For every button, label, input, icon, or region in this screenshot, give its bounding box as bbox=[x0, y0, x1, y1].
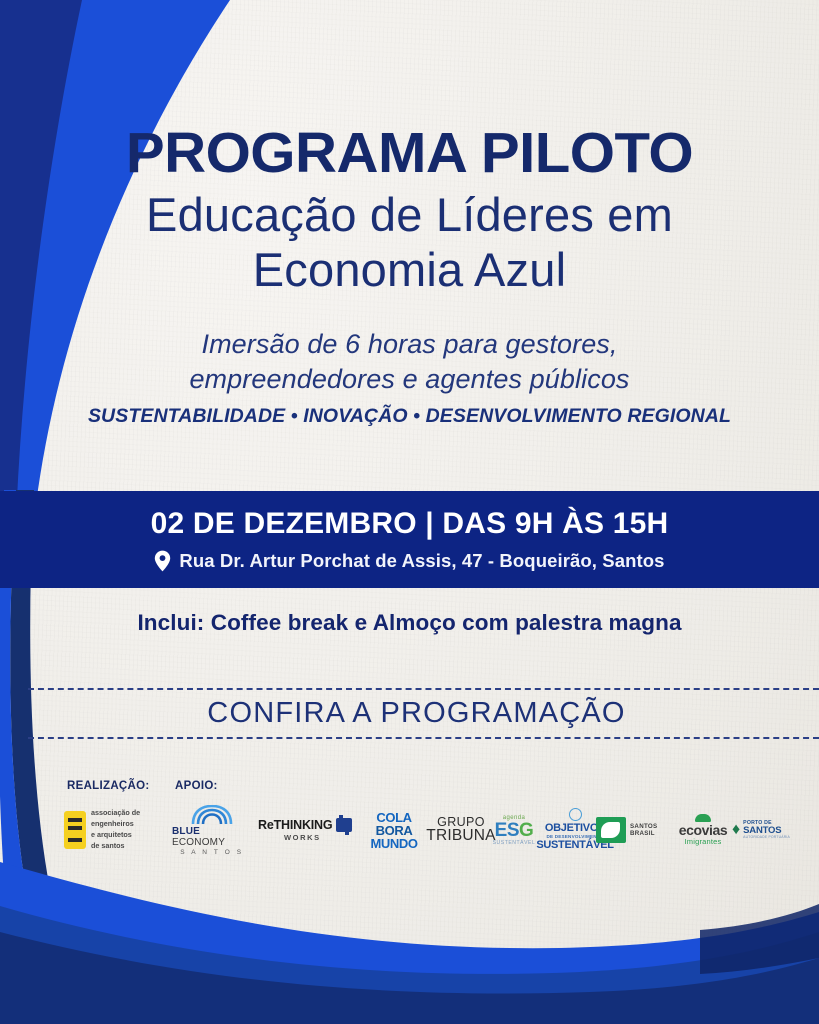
map-pin-icon bbox=[154, 550, 171, 572]
subtitle-line-1: Educação de Líderes em bbox=[0, 188, 819, 243]
includes-line: Inclui: Coffee break e Almoço com palest… bbox=[0, 610, 819, 636]
logo-rethinking-works: ReTHINKING WORKS bbox=[258, 799, 348, 861]
aeas-mark-icon bbox=[64, 811, 86, 849]
santos-brasil-mark-icon bbox=[596, 817, 626, 843]
apoio-label: APOIO: bbox=[175, 780, 218, 792]
colabora-line-2: BORA bbox=[376, 824, 413, 837]
logo-associacao-engenheiros-arquitetos-santos: associação de engenheiros e arquitetos d… bbox=[64, 799, 169, 861]
programacao-band: CONFIRA A PROGRAMAÇÃO bbox=[28, 688, 819, 739]
dashed-divider-bottom bbox=[28, 737, 819, 739]
aeas-line-1: associação de bbox=[91, 808, 140, 819]
page-title: PROGRAMA PILOTO bbox=[0, 124, 819, 182]
agenda-esg-bottom: SUSTENTÁVEL bbox=[493, 840, 536, 846]
lead-line-1: Imersão de 6 horas para gestores, bbox=[0, 327, 819, 362]
aeas-wordmark: associação de engenheiros e arquitetos d… bbox=[91, 808, 140, 851]
agenda-esg-g: G bbox=[519, 820, 533, 841]
porto-santos-line-3: AUTORIDADE PORTUÁRIA bbox=[743, 836, 790, 840]
event-date-time: 02 DE DEZEMBRO | DAS 9H ÀS 15H bbox=[151, 509, 669, 539]
rethinking-works-word: WORKS bbox=[284, 833, 321, 842]
logo-colabora-mundo: COLA BORA MUNDO bbox=[363, 799, 425, 861]
rethinking-wordmark: ReTHINKING bbox=[258, 818, 332, 832]
agenda-esg-es: ES bbox=[495, 820, 519, 841]
blue-economy-word-blue: BLUE bbox=[172, 826, 200, 837]
event-poster: PROGRAMA PILOTO Educação de Líderes em E… bbox=[0, 0, 819, 1024]
blue-economy-word-economy: ECONOMY bbox=[172, 837, 225, 848]
event-location: Rua Dr. Artur Porchat de Assis, 47 - Boq… bbox=[154, 550, 664, 572]
porto-santos-wordmark: PORTO DE SANTOS AUTORIDADE PORTUÁRIA bbox=[743, 821, 790, 840]
porto-santos-anchor-icon: ♦ bbox=[732, 821, 740, 839]
logo-row: associação de engenheiros e arquitetos d… bbox=[0, 799, 819, 865]
rethinking-row: ReTHINKING bbox=[258, 818, 352, 832]
ecovias-subtitle: Imigrantes bbox=[684, 837, 721, 846]
rethinking-mark-icon bbox=[336, 818, 352, 832]
logo-ecovias-imigrantes: ecovias Imigrantes bbox=[672, 799, 734, 861]
subtitle-line-2: Economia Azul bbox=[0, 243, 819, 298]
blue-economy-city: S A N T O S bbox=[180, 849, 243, 856]
colabora-line-3: MUNDO bbox=[370, 837, 417, 850]
santos-brasil-wordmark: SANTOS BRASIL bbox=[630, 823, 674, 837]
sponsors-section: REALIZAÇÃO: APOIO: associação de engenhe… bbox=[0, 775, 819, 870]
aeas-line-4: de santos bbox=[91, 841, 140, 852]
blue-economy-wave-icon bbox=[191, 805, 233, 825]
title-block: PROGRAMA PILOTO Educação de Líderes em E… bbox=[0, 124, 819, 297]
aeas-line-3: e arquitetos bbox=[91, 830, 140, 841]
logo-agenda-esg: agenda ESG SUSTENTÁVEL bbox=[486, 799, 542, 861]
event-address-text: Rua Dr. Artur Porchat de Assis, 47 - Boq… bbox=[179, 550, 664, 572]
ecovias-wordmark: ecovias bbox=[679, 823, 728, 837]
colabora-line-1: COLA bbox=[376, 811, 411, 824]
aeas-line-2: engenheiros bbox=[91, 819, 140, 830]
agenda-esg-mark: ESG bbox=[495, 821, 534, 840]
blue-economy-wordmark: BLUE ECONOMY bbox=[172, 826, 252, 848]
ods-globe-icon bbox=[569, 808, 582, 821]
logo-blue-economy-santos: BLUE ECONOMY S A N T O S bbox=[172, 799, 252, 861]
logo-grupo-tribuna: GRUPO TRIBUNA bbox=[428, 799, 494, 861]
cta-text: CONFIRA A PROGRAMAÇÃO bbox=[28, 688, 819, 739]
lead-line-2: empreendedores e agentes públicos bbox=[0, 362, 819, 397]
tagline: SUSTENTABILIDADE • INOVAÇÃO • DESENVOLVI… bbox=[0, 405, 819, 428]
realizacao-label: REALIZAÇÃO: bbox=[67, 780, 150, 792]
lead-description: Imersão de 6 horas para gestores, empree… bbox=[0, 327, 819, 396]
event-details-banner: 02 DE DEZEMBRO | DAS 9H ÀS 15H Rua Dr. A… bbox=[0, 491, 819, 588]
ecovias-leaf-icon bbox=[695, 814, 711, 822]
logo-santos-brasil: SANTOS BRASIL bbox=[596, 799, 674, 861]
logo-porto-de-santos: ♦ PORTO DE SANTOS AUTORIDADE PORTUÁRIA bbox=[732, 799, 798, 861]
